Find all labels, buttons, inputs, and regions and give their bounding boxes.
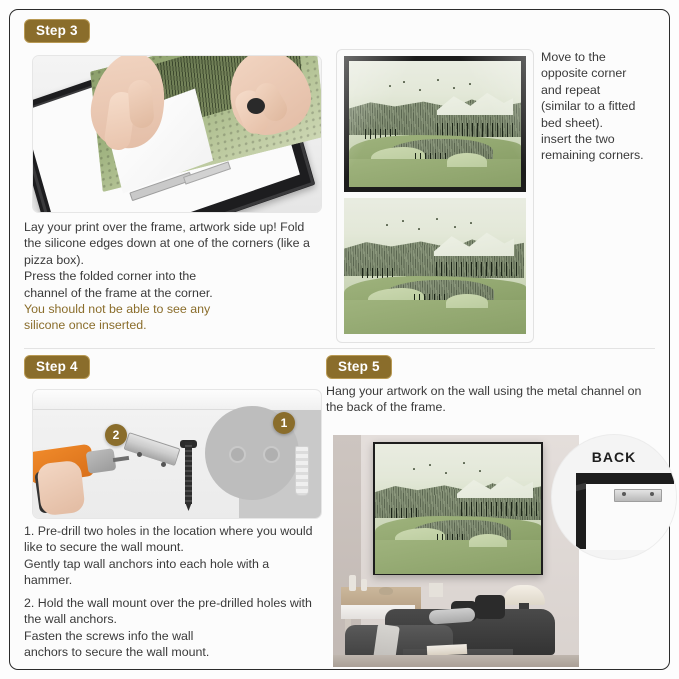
bird-speck bbox=[454, 226, 456, 228]
step-5-photo bbox=[333, 435, 579, 667]
bird-speck bbox=[445, 472, 447, 474]
side-photo-draped-print bbox=[344, 56, 526, 192]
bird-speck bbox=[386, 224, 388, 226]
sofa-cushion bbox=[475, 595, 505, 619]
fabric-drape-shading bbox=[344, 56, 526, 192]
section-divider bbox=[24, 348, 655, 349]
candle-decor bbox=[349, 575, 356, 591]
step-3-body-accent: You should not be able to see any silico… bbox=[24, 301, 316, 334]
page-inner: Step 3 Lay your print over the frame, ar… bbox=[11, 11, 668, 668]
ceiling-surface bbox=[33, 390, 321, 410]
foreground-field bbox=[375, 540, 541, 574]
foreground-field bbox=[344, 300, 526, 334]
bird-speck bbox=[429, 464, 431, 466]
artwork-scene bbox=[375, 444, 541, 573]
bracket-hole-icon bbox=[137, 452, 142, 457]
right-thumb-shadow bbox=[247, 98, 265, 114]
side-photo-flat-print bbox=[344, 198, 526, 334]
floor bbox=[333, 655, 579, 667]
bracket-hole-icon bbox=[161, 462, 166, 467]
bird-speck bbox=[413, 468, 415, 470]
bird-speck bbox=[436, 218, 438, 220]
frame-back-detail-inset: BACK bbox=[552, 435, 676, 559]
tree-line-right bbox=[459, 502, 537, 516]
book-stack-decor bbox=[429, 583, 443, 597]
tree-line-right bbox=[434, 262, 520, 276]
foreground-light-patch bbox=[446, 294, 488, 308]
channel-hole-icon bbox=[622, 492, 626, 496]
pre-drilled-hole-right-icon bbox=[263, 446, 280, 463]
mountain-pale-peaks bbox=[434, 230, 514, 256]
step-4-photo: 1 2 bbox=[32, 389, 322, 519]
step-3-badge: Step 3 bbox=[24, 19, 90, 43]
callout-number-2: 2 bbox=[105, 424, 127, 446]
bowl-decor bbox=[379, 587, 393, 595]
step-4-instruction-1: 1. Pre-drill two holes in the location w… bbox=[24, 523, 320, 589]
back-label: BACK bbox=[552, 449, 676, 465]
bird-speck bbox=[418, 228, 420, 230]
left-middle-finger bbox=[127, 79, 154, 129]
bird-speck bbox=[470, 222, 472, 224]
step-5-badge: Step 5 bbox=[326, 355, 392, 379]
artwork-scene bbox=[344, 198, 526, 334]
bird-speck bbox=[463, 462, 465, 464]
pre-drilled-hole-left-icon bbox=[229, 446, 246, 463]
hung-artwork-frame bbox=[373, 442, 543, 575]
frame-back-top-edge bbox=[576, 473, 674, 484]
channel-hole-icon bbox=[650, 492, 654, 496]
step-3-side-photos bbox=[336, 49, 534, 343]
foreground-light-patch bbox=[469, 534, 507, 547]
step-3-side-note: Move to the opposite corner and repeat (… bbox=[541, 49, 663, 164]
step-5-instruction: Hang your artwork on the wall using the … bbox=[326, 383, 642, 416]
mountain-pale-peaks bbox=[457, 474, 533, 498]
instruction-sheet: Step 3 Lay your print over the frame, ar… bbox=[0, 0, 679, 679]
step-4-badge: Step 4 bbox=[24, 355, 90, 379]
metal-hanging-channel bbox=[614, 489, 662, 502]
step-3-body-primary: Lay your print over the frame, artwork s… bbox=[24, 219, 316, 301]
ceiling-edge-line bbox=[33, 409, 239, 410]
hand-holding-drill bbox=[36, 460, 85, 516]
bird-speck bbox=[402, 220, 404, 222]
callout-number-1: 1 bbox=[273, 412, 295, 434]
screw-shaft bbox=[185, 442, 192, 504]
wall-anchor bbox=[295, 446, 309, 496]
candle-decor bbox=[361, 579, 367, 591]
power-drill-chuck bbox=[86, 448, 117, 474]
step-4-instruction-2: 2. Hold the wall mount over the pre-dril… bbox=[24, 595, 320, 661]
step-3-photo bbox=[32, 55, 322, 213]
bird-speck bbox=[479, 470, 481, 472]
